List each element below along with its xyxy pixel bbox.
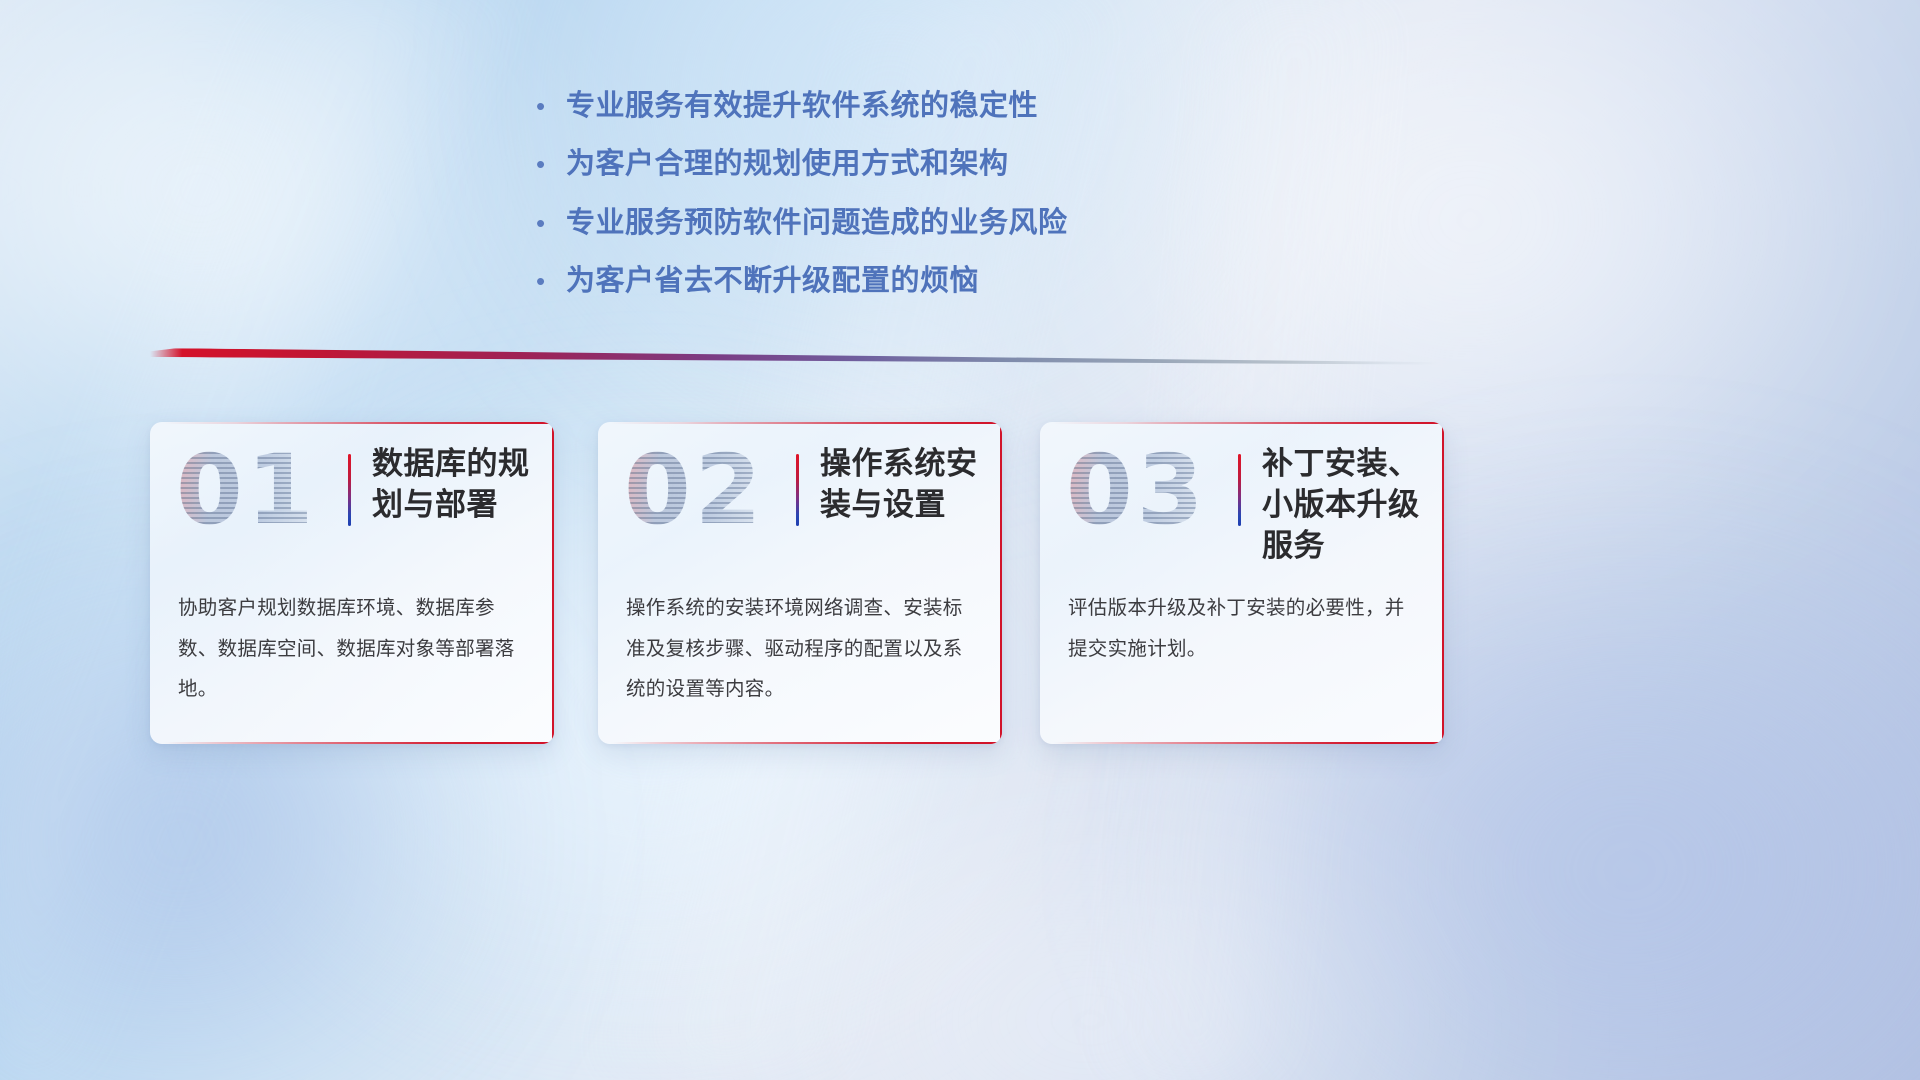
benefit-bullet-list: • 专业服务有效提升软件系统的稳定性 • 为客户合理的规划使用方式和架构 • 专… <box>536 88 1296 299</box>
card-title: 数据库的规划与部署 <box>372 444 536 526</box>
card-border-right <box>1442 424 1445 742</box>
bullet-dot-icon: • <box>536 93 566 119</box>
card-border-bottom <box>1052 742 1442 744</box>
card-body-text: 评估版本升级及补丁安装的必要性，并提交实施计划。 <box>1068 588 1418 669</box>
card-header: 02 操作系统安装与设置 <box>598 422 1002 554</box>
bullet-text: 为客户合理的规划使用方式和架构 <box>566 146 1009 182</box>
service-card-01[interactable]: 01 数据库的规划与部署 协助客户规划数据库环境、数据库参数、数据库空间、数据库… <box>150 422 554 744</box>
card-number-watermark: 03 <box>1066 442 1208 538</box>
list-item: • 专业服务有效提升软件系统的稳定性 <box>536 88 1296 124</box>
card-body-text: 协助客户规划数据库环境、数据库参数、数据库空间、数据库对象等部署落地。 <box>178 588 528 710</box>
service-card-group: 01 数据库的规划与部署 协助客户规划数据库环境、数据库参数、数据库空间、数据库… <box>150 422 1562 744</box>
card-border-top <box>1052 422 1442 424</box>
card-number-watermark: 02 <box>624 442 766 538</box>
bullet-text: 专业服务预防软件问题造成的业务风险 <box>566 205 1068 241</box>
card-border-top <box>162 422 552 424</box>
service-card-03[interactable]: 03 补丁安装、小版本升级服务 评估版本升级及补丁安装的必要性，并提交实施计划。 <box>1040 422 1444 744</box>
card-body-text: 操作系统的安装环境网络调查、安装标准及复核步骤、驱动程序的配置以及系统的设置等内… <box>626 588 976 710</box>
card-border-top <box>610 422 1000 424</box>
bullet-dot-icon: • <box>536 268 566 294</box>
divider-line <box>150 348 1440 367</box>
card-border-right <box>1000 424 1003 742</box>
card-title: 操作系统安装与设置 <box>820 444 984 526</box>
card-header: 03 补丁安装、小版本升级服务 <box>1040 422 1444 554</box>
bullet-dot-icon: • <box>536 151 566 177</box>
card-border-right <box>552 424 555 742</box>
card-accent-bar <box>796 454 799 526</box>
card-number-watermark: 01 <box>176 442 318 538</box>
card-border-bottom <box>162 742 552 744</box>
section-divider <box>150 342 1440 368</box>
bullet-dot-icon: • <box>536 210 566 236</box>
card-header: 01 数据库的规划与部署 <box>150 422 554 554</box>
bullet-text: 为客户省去不断升级配置的烦恼 <box>566 263 979 299</box>
bullet-text: 专业服务有效提升软件系统的稳定性 <box>566 88 1038 124</box>
list-item: • 专业服务预防软件问题造成的业务风险 <box>536 205 1296 241</box>
list-item: • 为客户省去不断升级配置的烦恼 <box>536 263 1296 299</box>
card-border-bottom <box>610 742 1000 744</box>
card-accent-bar <box>1238 454 1241 526</box>
service-card-02[interactable]: 02 操作系统安装与设置 操作系统的安装环境网络调查、安装标准及复核步骤、驱动程… <box>598 422 1002 744</box>
card-accent-bar <box>348 454 351 526</box>
list-item: • 为客户合理的规划使用方式和架构 <box>536 146 1296 182</box>
card-title: 补丁安装、小版本升级服务 <box>1262 444 1426 567</box>
